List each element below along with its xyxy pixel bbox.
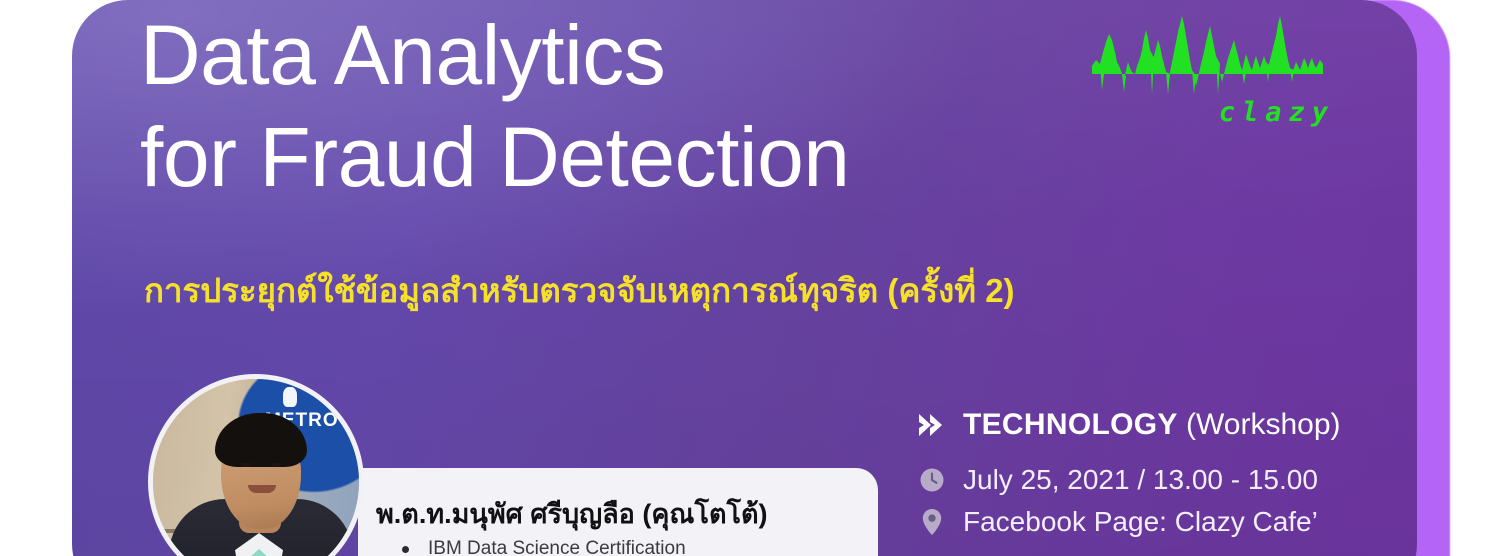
- event-location: Facebook Page: Clazy Cafe’: [963, 506, 1318, 538]
- clock-icon: [917, 465, 947, 495]
- map-pin-icon: [917, 507, 947, 537]
- event-info-panel: TECHNOLOGY (Workshop) July 25, 2021 / 13…: [917, 408, 1417, 548]
- photo-eye-right: [271, 463, 280, 467]
- event-poster: Data Analytics for Fraud Detection การปร…: [0, 0, 1500, 556]
- double-chevron-right-icon: [917, 410, 947, 440]
- speaker-card: พ.ต.ท.มนุพัศ ศรีบุญลือ (คุณโตโต้) IBM Da…: [358, 468, 878, 556]
- page-title: Data Analytics for Fraud Detection: [140, 4, 1140, 209]
- speaker-photo: METRO PO: [153, 379, 359, 556]
- speaker-name: พ.ต.ท.มนุพัศ ศรีบุญลือ (คุณโตโต้): [376, 498, 878, 530]
- photo-brow-right: [268, 456, 284, 459]
- avatar: METRO PO: [148, 374, 364, 556]
- event-category-format: (Workshop): [1178, 408, 1341, 441]
- audio-waveform-icon: [1090, 12, 1335, 94]
- event-datetime-row: July 25, 2021 / 13.00 - 15.00: [917, 464, 1417, 496]
- photo-eye-left: [241, 463, 250, 467]
- brand-wordmark: clazy: [1219, 97, 1335, 128]
- event-category: TECHNOLOGY (Workshop): [963, 408, 1341, 442]
- subtitle-thai: การประยุกต์ใช้ข้อมูลสำหรับตรวจจับเหตุการ…: [144, 264, 1015, 317]
- event-location-row: Facebook Page: Clazy Cafe’: [917, 506, 1417, 538]
- event-category-row: TECHNOLOGY (Workshop): [917, 408, 1417, 442]
- brand-logo[interactable]: clazy: [1090, 12, 1335, 128]
- photo-mouth: [248, 485, 276, 493]
- event-datetime: July 25, 2021 / 13.00 - 15.00: [963, 464, 1318, 496]
- photo-brow-left: [238, 456, 254, 459]
- speaker-credentials-list: IBM Data Science Certification: [376, 536, 878, 556]
- event-category-name: TECHNOLOGY: [963, 408, 1178, 441]
- list-item: IBM Data Science Certification: [376, 536, 878, 556]
